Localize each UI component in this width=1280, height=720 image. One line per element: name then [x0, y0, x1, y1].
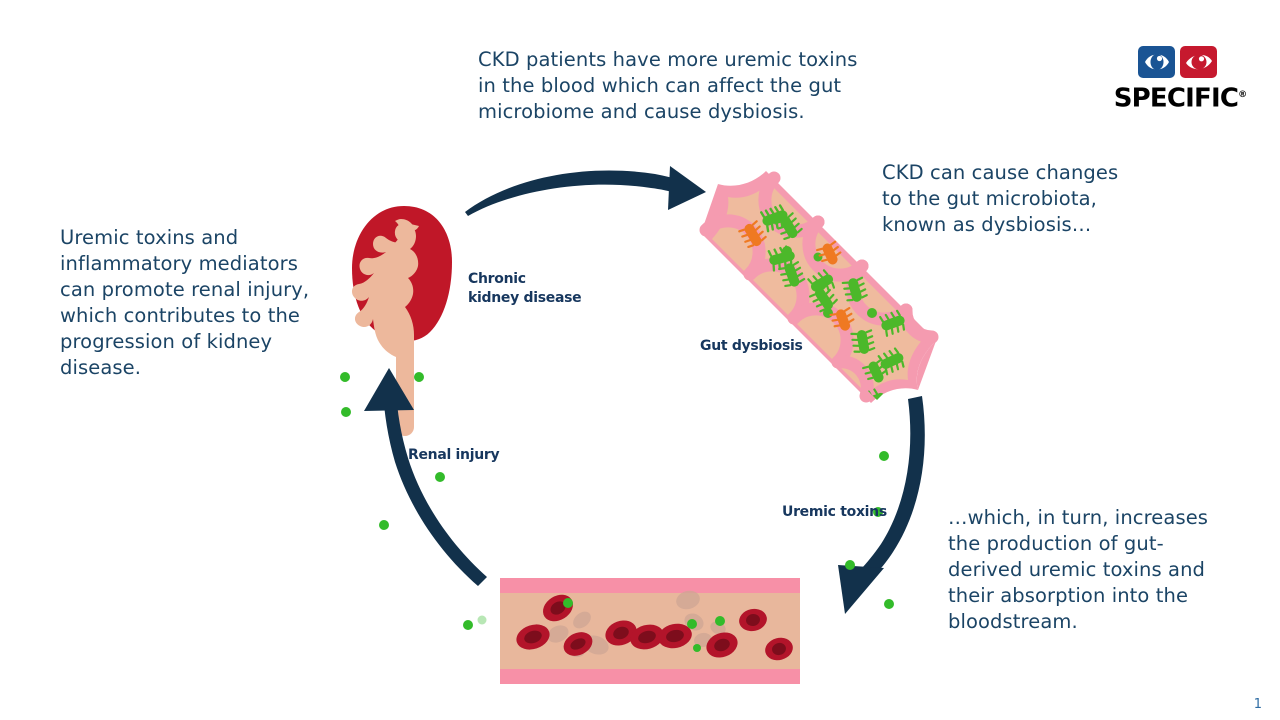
cycle-arrows — [364, 166, 925, 614]
cat-eye-icon — [1138, 46, 1175, 78]
label-uremic-toxins: Uremic toxins — [782, 503, 887, 522]
callout-gut-dysbiosis: CKD can cause changes to the gut microbi… — [882, 160, 1142, 238]
specific-wordmark: SPECIFIC® — [1110, 80, 1250, 114]
slide-canvas: CKD patients have more uremic toxins in … — [0, 0, 1280, 720]
callout-renal-injury-progression: Uremic toxins and inflammatory mediators… — [60, 225, 332, 381]
dog-eye-icon — [1180, 46, 1217, 78]
wordmark-text: SPECIFIC — [1114, 84, 1238, 114]
arrow-vessel-to-kidney — [364, 368, 487, 586]
arrow-kidney-to-gut — [465, 166, 706, 216]
label-chronic-kidney-disease: Chronic kidney disease — [468, 270, 581, 308]
specific-logo: SPECIFIC® — [1110, 44, 1250, 114]
registered-trademark-icon: ® — [1238, 90, 1246, 100]
label-gut-dysbiosis: Gut dysbiosis — [700, 337, 803, 356]
specific-logo-eyes — [1110, 44, 1250, 82]
callout-uremic-toxin-production: …which, in turn, increases the productio… — [948, 505, 1220, 635]
callout-ckd-to-gut: CKD patients have more uremic toxins in … — [478, 47, 858, 125]
page-number: 1 — [1254, 697, 1262, 712]
label-renal-injury: Renal injury — [408, 446, 499, 465]
blood-vessel-illustration — [500, 578, 800, 684]
